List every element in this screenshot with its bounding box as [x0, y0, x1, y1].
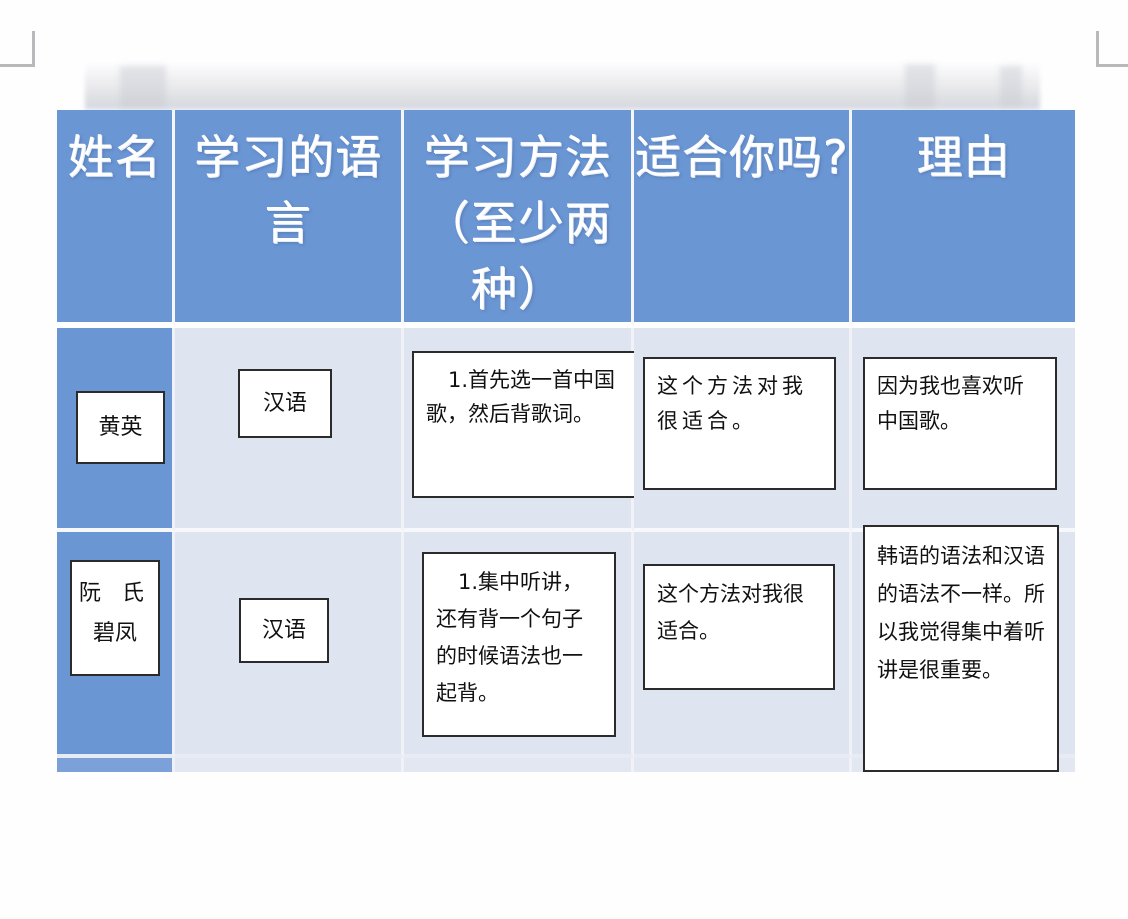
answer-line: 阮 氏	[72, 574, 158, 614]
cell-method-row2: 1.集中听讲，还有背一个句子的时候语法也一起背。	[404, 532, 634, 758]
header-label-name: 姓名	[57, 110, 172, 190]
cell-suitable-row3	[634, 758, 852, 772]
cell-method-row3	[404, 758, 634, 772]
scan-artifact-band	[85, 62, 1040, 110]
answer-box-suitable[interactable]: 这个方法对我很适合。	[643, 357, 836, 490]
answer-box-reason[interactable]: 韩语的语法和汉语的语法不一样。所以我觉得集中着听讲是很重要。	[863, 525, 1059, 772]
answer-box-method[interactable]: 1.首先选一首中国歌，然后背歌词。	[412, 351, 636, 498]
answer-box-suitable[interactable]: 这个方法对我很适合。	[643, 564, 835, 690]
cell-language-row1: 汉语	[175, 328, 404, 532]
cell-name-row1: 黄英	[57, 328, 175, 532]
answer-box-method[interactable]: 1.集中听讲，还有背一个句子的时候语法也一起背。	[422, 552, 616, 737]
answer-box-language[interactable]: 汉语	[239, 598, 329, 663]
header-line: （至少两种）	[404, 190, 631, 322]
cell-suitable-row2: 这个方法对我很适合。	[634, 532, 852, 758]
worksheet-table: 姓名 学习的语言 学习方法 （至少两种） 适合你吗?	[57, 110, 1075, 772]
header-cell-reason: 理由	[852, 110, 1075, 328]
header-label-method: 学习方法 （至少两种）	[404, 110, 631, 322]
header-label-reason: 理由	[852, 110, 1075, 190]
table-header-row: 姓名 学习的语言 学习方法 （至少两种） 适合你吗?	[57, 110, 1075, 328]
answer-box-name[interactable]: 黄英	[76, 391, 165, 464]
cell-method-row1: 1.首先选一首中国歌，然后背歌词。	[404, 328, 634, 532]
cell-reason-row1: 因为我也喜欢听中国歌。	[852, 328, 1075, 532]
cell-name-row3	[57, 758, 175, 772]
header-cell-method: 学习方法 （至少两种）	[404, 110, 634, 328]
cell-language-row3	[175, 758, 404, 772]
header-line: 姓名	[57, 124, 172, 190]
cell-name-row2: 阮 氏 碧凤	[57, 532, 175, 758]
cell-suitable-row1: 这个方法对我很适合。	[634, 328, 852, 532]
cell-reason-row2: 韩语的语法和汉语的语法不一样。所以我觉得集中着听讲是很重要。	[852, 532, 1075, 758]
scan-artifact-streak	[905, 64, 935, 108]
answer-box-name[interactable]: 阮 氏 碧凤	[70, 560, 160, 676]
crop-mark-top-right-icon	[1080, 31, 1116, 67]
scan-artifact-streak	[1000, 66, 1022, 106]
header-label-language: 学习的语言	[175, 110, 401, 256]
header-cell-suitable: 适合你吗?	[634, 110, 852, 328]
answer-line: 碧凤	[72, 614, 158, 654]
page-canvas: 姓名 学习的语言 学习方法 （至少两种） 适合你吗?	[0, 0, 1128, 919]
answer-box-reason[interactable]: 因为我也喜欢听中国歌。	[863, 357, 1057, 490]
scan-artifact-streak	[120, 66, 166, 108]
table-row: 黄英 汉语 1.首先选一首中国歌，然后背歌词。 这个方法对我很适合。 因为我也喜…	[57, 328, 1075, 532]
header-cell-name: 姓名	[57, 110, 175, 328]
header-cell-language: 学习的语言	[175, 110, 404, 328]
answer-box-language[interactable]: 汉语	[238, 369, 332, 438]
table-row: 阮 氏 碧凤 汉语 1.集中听讲，还有背一个句子的时候语法也一起背。 这个方法对…	[57, 532, 1075, 758]
header-line: 学习的语言	[175, 124, 401, 256]
header-line: 理由	[852, 124, 1075, 190]
cell-language-row2: 汉语	[175, 532, 404, 758]
header-line: 学习方法	[404, 124, 631, 190]
header-label-suitable: 适合你吗?	[634, 110, 849, 190]
crop-mark-top-left-icon	[12, 31, 48, 67]
header-line: 适合你吗?	[634, 124, 849, 190]
